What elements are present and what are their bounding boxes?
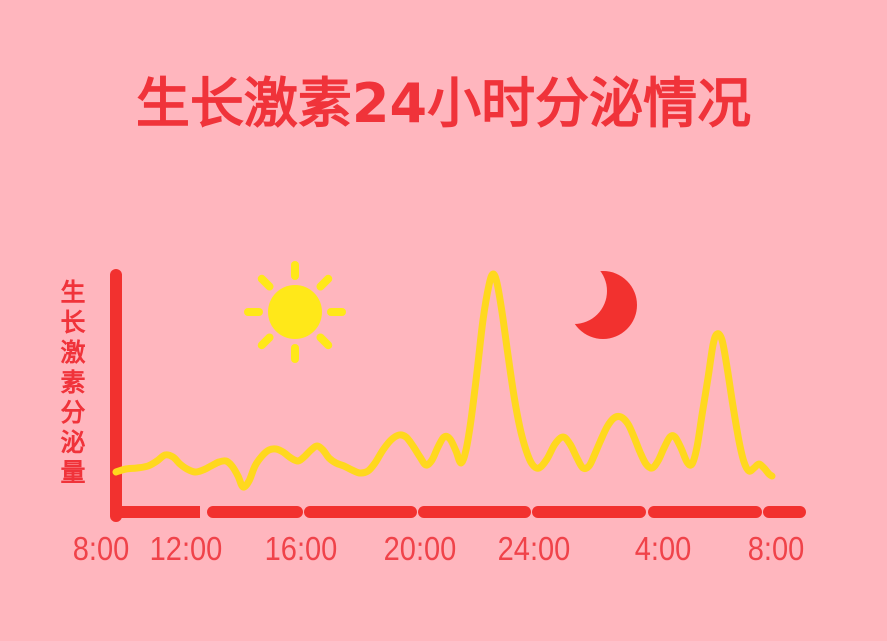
sun-ray-1	[320, 279, 328, 287]
x-tick-label-1: 12:00	[133, 529, 239, 569]
x-tick-label-6: 8:00	[723, 529, 829, 569]
growth-hormone-chart: 生长激素24小时分泌情况 生 长 激 素 分 泌 量 8:00 12:00 16…	[0, 0, 887, 641]
sun-icon	[248, 265, 342, 359]
x-tick-label-4: 24:00	[481, 529, 587, 569]
axes-group	[112, 275, 800, 516]
sun-ray-7	[262, 279, 270, 287]
x-tick-label-5: 4:00	[610, 529, 716, 569]
sun-disc	[268, 285, 322, 339]
growth-hormone-curve	[116, 274, 772, 487]
x-tick-label-2: 16:00	[248, 529, 354, 569]
moon-icon	[569, 271, 637, 339]
sun-ray-3	[320, 337, 328, 345]
x-axis-tick-labels: 8:00 12:00 16:00 20:00 24:00 4:00 8:00	[0, 529, 887, 573]
sun-ray-5	[262, 337, 270, 345]
moon-crescent	[569, 271, 637, 339]
x-tick-label-3: 20:00	[367, 529, 473, 569]
